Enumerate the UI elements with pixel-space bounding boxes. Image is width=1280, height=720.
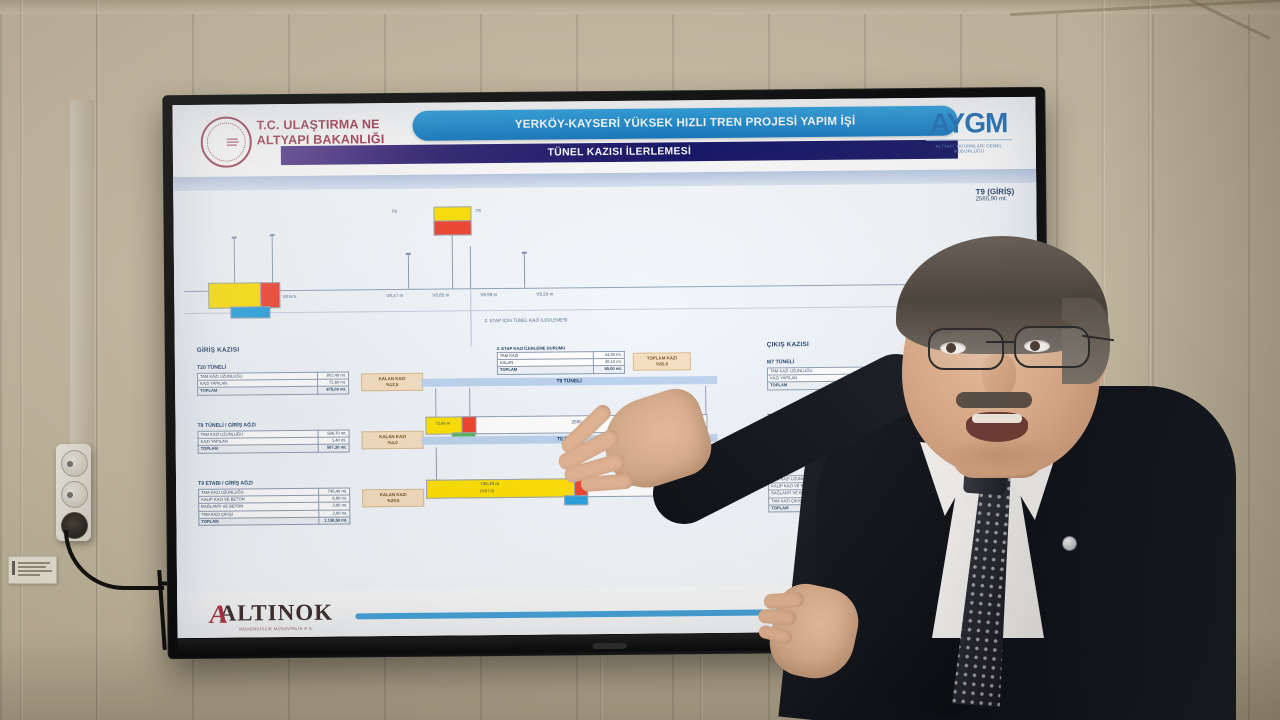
left-column: GİRİŞ KAZISI bbox=[197, 345, 423, 354]
tick-mark bbox=[469, 388, 470, 416]
shaft-line bbox=[408, 255, 410, 289]
progress-block-red bbox=[434, 220, 472, 235]
chin-shadow bbox=[940, 436, 1056, 472]
table-row: TOPLAM80,00 mt. bbox=[497, 366, 624, 374]
note-badge: KALAN KAZI %29,5 bbox=[362, 489, 424, 507]
progress-block-red bbox=[260, 282, 280, 308]
slide-title: YERKÖY-KAYSERİ YÜKSEK HIZLI TREN PROJESİ… bbox=[412, 106, 957, 141]
segment-label: V9,20 m bbox=[536, 292, 553, 297]
note-badge: KALAN KAZI %12,5 bbox=[361, 373, 423, 391]
segment-label: V8,85 m bbox=[432, 293, 449, 298]
group-t9: T9 ETABI / GİRİŞ AĞZI TAM KAZI UZUNLUĞU7… bbox=[198, 479, 350, 525]
data-table: TAM KAZI UZUNLUĞU745,40 mt. KALIP KAZI V… bbox=[198, 487, 350, 525]
data-table: TAM KAZI44,90 mt. KALAN35,10 mt. TOPLAM8… bbox=[497, 351, 625, 375]
table-row: TOPLAM1.136,50 mt. bbox=[199, 517, 350, 526]
shaft-cap bbox=[270, 234, 275, 236]
presenter bbox=[664, 236, 1280, 720]
mustache bbox=[956, 392, 1032, 408]
slide-title-bar: YERKÖY-KAYSERİ YÜKSEK HIZLI TREN PROJESİ… bbox=[412, 106, 957, 141]
table-row: TOPLAM587,30 mt. bbox=[198, 444, 349, 453]
shaft-cap bbox=[232, 237, 237, 239]
tick-mark bbox=[435, 389, 436, 417]
finger bbox=[763, 592, 804, 610]
contractor-logo: A ALTINOK MÜHENDİSLİK MÜŞAVİRLİK A.Ş. bbox=[205, 600, 347, 631]
power-strip[interactable] bbox=[56, 444, 91, 541]
tunnel-done-sub: (%57,0) bbox=[480, 488, 494, 493]
headline-figure: T9 (GİRİŞ) 2565,90 mt. bbox=[976, 187, 1015, 202]
headline-name: T9 (GİRİŞ) bbox=[976, 187, 1015, 196]
mid-summary-table: 2. ETAP KAZI İLERLEME DURUMU TAM KAZI44,… bbox=[497, 345, 625, 375]
lens-left bbox=[928, 328, 1004, 370]
data-table: TAM KAZI UZUNLUĞU802,40 mt. KAZI YAPILAN… bbox=[197, 371, 349, 395]
ministry-emblem-icon bbox=[201, 116, 252, 167]
eyeglasses bbox=[914, 328, 1100, 368]
group-title: T8 TÜNELİ / GİRİŞ AĞZI bbox=[197, 421, 349, 428]
left-column-heading: GİRİŞ KAZISI bbox=[197, 345, 423, 354]
group-title: T20 TÜNELİ bbox=[197, 363, 349, 370]
crescent-star-icon bbox=[213, 134, 239, 151]
progress-block-blue bbox=[230, 306, 270, 318]
slide-header: T.C. ULAŞTIRMA NE ALTYAPI BAKANLIĞI YERK… bbox=[172, 97, 1036, 177]
finger bbox=[758, 624, 794, 645]
segment-label: V8 Km. bbox=[282, 294, 297, 299]
tv-indicator bbox=[592, 643, 626, 649]
altinok-star-icon: A bbox=[207, 600, 230, 630]
socket-conduit bbox=[70, 100, 94, 448]
group-t20: T20 TÜNELİ TAM KAZI UZUNLUĞU802,40 mt. K… bbox=[197, 363, 349, 395]
progress-block-yellow bbox=[426, 478, 576, 498]
shaft-cap bbox=[406, 253, 411, 255]
table-row: TOPLAM875,00 mt. bbox=[198, 386, 349, 395]
lens-right bbox=[1014, 326, 1090, 368]
segment-label: V8,99 m bbox=[480, 292, 497, 297]
progress-block-yellow bbox=[208, 282, 262, 309]
finger bbox=[758, 609, 797, 626]
center-axis bbox=[470, 288, 472, 346]
wall-panel-seam bbox=[96, 0, 99, 720]
photo-scene: T.C. ULAŞTIRMA NE ALTYAPI BAKANLIĞI YERK… bbox=[0, 0, 1280, 720]
glasses-bridge bbox=[986, 341, 1014, 343]
aygm-logo: AYGM ALTYAPI YATIRIMLARI GENEL MÜDÜRLÜĞÜ bbox=[919, 109, 1017, 154]
ministry-line-1: T.C. ULAŞTIRMA NE bbox=[257, 117, 437, 134]
shaft-line bbox=[524, 254, 526, 288]
tick-mark bbox=[436, 448, 437, 480]
teeth bbox=[972, 414, 1022, 423]
group-t8: T8 TÜNELİ / GİRİŞ AĞZI TAM KAZI UZUNLUĞU… bbox=[197, 421, 349, 453]
segment-label: V8,47 m bbox=[386, 293, 403, 298]
aygm-tagline: ALTYAPI YATIRIMLARI GENEL MÜDÜRLÜĞÜ bbox=[920, 143, 1018, 154]
progress-block-blue bbox=[564, 495, 588, 505]
wall-label-plate bbox=[8, 556, 57, 584]
data-table: TAM KAZI UZUNLUĞU586,70 mt. KAZI YAPILAN… bbox=[198, 429, 350, 453]
shaft-line bbox=[470, 246, 472, 288]
aygm-wordmark: AYGM bbox=[919, 109, 1017, 138]
tunnel-done-label: 745,40 m bbox=[480, 481, 499, 486]
note-badge: KALAN KAZI %4,0 bbox=[362, 431, 424, 449]
shaft-cap bbox=[522, 252, 527, 254]
headline-length: 2565,90 mt. bbox=[976, 196, 1015, 202]
tunnel-done-label: 72,60 m bbox=[435, 421, 450, 426]
wall-panel-seam bbox=[20, 0, 23, 720]
aygm-rule bbox=[926, 139, 1012, 141]
callout-label-top: T9 bbox=[391, 209, 396, 214]
lapel-pin bbox=[1062, 536, 1077, 551]
group-title: T9 ETABI / GİRİŞ AĞZI bbox=[198, 479, 350, 486]
callout-label-left: T8 bbox=[475, 208, 480, 213]
profile-footnote: 2. ETAP İÇİN TÜNEL KAZI İLERLEMESİ bbox=[484, 317, 567, 323]
